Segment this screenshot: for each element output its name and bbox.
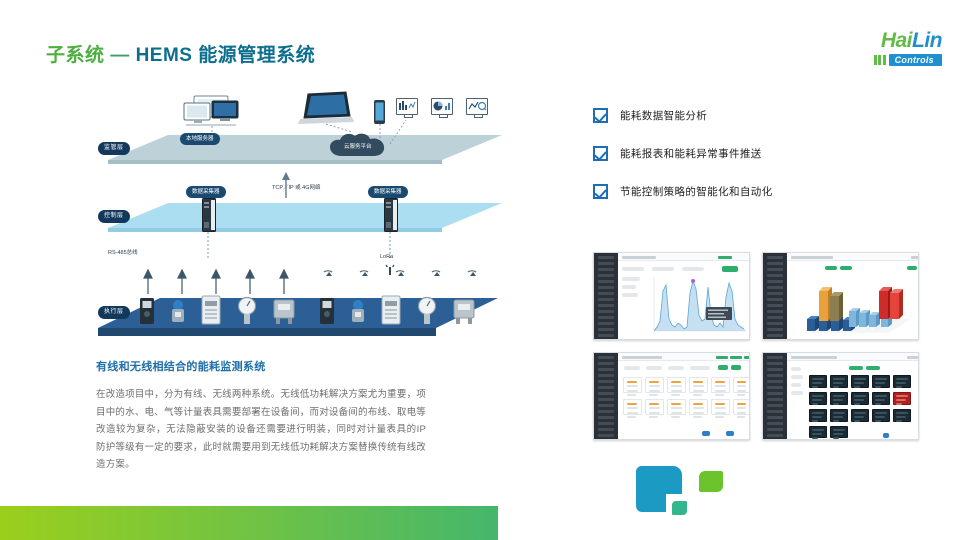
logo-word-hai: Hai (881, 29, 912, 52)
page-title-prefix: 子系统 (46, 45, 110, 66)
meter-electric (140, 298, 154, 324)
architecture-diagram: 监管层 控制层 执行层 本地服务器 云服务平台 (90, 80, 530, 345)
deco-teal-arm-shape (636, 466, 682, 494)
deco-teal-small-shape (672, 501, 687, 515)
screenshot-sidebar (763, 353, 787, 439)
checklist-item-label: 节能控制策略的智能化和自动化 (620, 184, 773, 199)
wired-meter-group (134, 292, 314, 328)
meter-electric-wireless (320, 298, 334, 324)
device-tile[interactable] (809, 392, 827, 405)
screenshot-topbar (787, 253, 918, 261)
screenshot-energy-3d-bar[interactable] (762, 252, 919, 340)
device-card[interactable] (645, 399, 664, 415)
screenshot-sidebar (594, 353, 618, 439)
meter-gauge-wireless (419, 298, 436, 325)
check-icon (593, 108, 608, 123)
screenshot-energy-trend[interactable] (593, 252, 750, 340)
page-title-dash: — (110, 45, 135, 66)
device-card[interactable] (623, 399, 642, 415)
screenshot-sidebar (763, 253, 787, 339)
device-tile[interactable] (872, 392, 890, 405)
feature-checklist: 能耗数据智能分析 能耗报表和能耗异常事件推送 节能控制策略的智能化和自动化 (593, 108, 923, 222)
device-card[interactable] (689, 377, 708, 393)
device-tile[interactable] (851, 409, 869, 422)
brand-logo: HaiLin Controls (834, 30, 942, 72)
logo-bars-icon (874, 55, 886, 65)
checklist-item-control-automation[interactable]: 节能控制策略的智能化和自动化 (593, 184, 923, 199)
device-card[interactable] (733, 377, 750, 393)
screenshot-sidebar (594, 253, 618, 339)
device-tile[interactable] (893, 409, 911, 422)
device-card[interactable] (711, 377, 730, 393)
screenshot-content (787, 261, 918, 339)
screenshot-content (618, 261, 749, 339)
device-tile[interactable] (872, 409, 890, 422)
area-chart (644, 275, 748, 337)
checklist-item-label: 能耗数据智能分析 (620, 108, 707, 123)
device-card[interactable] (667, 399, 686, 415)
checklist-item-analysis[interactable]: 能耗数据智能分析 (593, 108, 923, 123)
bar-3d-chart (793, 275, 919, 337)
wireless-meter-group (314, 292, 494, 328)
device-tile[interactable] (851, 392, 869, 405)
device-tile[interactable] (809, 375, 827, 388)
check-icon (593, 146, 608, 161)
screenshot-device-monitor[interactable] (762, 352, 919, 440)
device-card[interactable] (711, 399, 730, 415)
page-title-main: HEMS 能源管理系统 (136, 45, 316, 66)
device-card[interactable] (689, 399, 708, 415)
logo-wordmark: HaiLin (834, 30, 942, 52)
check-icon (593, 184, 608, 199)
device-card[interactable] (733, 399, 750, 415)
device-tile[interactable] (830, 409, 848, 422)
device-tile[interactable] (830, 392, 848, 405)
screenshot-topbar (787, 353, 918, 361)
caption-heading: 有线和无线相结合的能耗监测系统 (96, 358, 426, 374)
page-title: 子系统 — HEMS 能源管理系统 (46, 40, 315, 67)
screenshot-content (787, 361, 918, 439)
device-card[interactable] (645, 377, 664, 393)
screenshot-content (618, 361, 749, 439)
meter-water (172, 300, 184, 322)
screenshot-device-cards[interactable] (593, 352, 750, 440)
device-tile[interactable] (809, 426, 827, 438)
caption-body: 在改造项目中，分为有线、无线两种系统。无线低功耗解决方案尤为重要，项目中的水、电… (96, 386, 426, 474)
caption-block: 有线和无线相结合的能耗监测系统 在改造项目中，分为有线、无线两种系统。无线低功耗… (96, 358, 426, 474)
checklist-item-label: 能耗报表和能耗异常事件推送 (620, 146, 762, 161)
device-tile[interactable] (830, 426, 848, 438)
screenshot-topbar (618, 253, 749, 261)
device-tile[interactable] (893, 375, 911, 388)
device-tile[interactable] (851, 375, 869, 388)
device-card[interactable] (623, 377, 642, 393)
device-tile-alarm[interactable] (893, 392, 911, 405)
meter-gas (274, 300, 294, 324)
deco-green-leaf-shape (699, 471, 723, 492)
logo-word-lin: Lin (912, 29, 942, 52)
meter-calculator (202, 296, 220, 324)
device-tile[interactable] (872, 375, 890, 388)
logo-subrow: Controls (834, 54, 942, 66)
meter-gas-wireless (454, 300, 474, 324)
screenshot-topbar (618, 353, 749, 361)
device-tile[interactable] (830, 375, 848, 388)
bottom-white-notch (498, 506, 960, 540)
logo-controls-label: Controls (889, 54, 942, 66)
screenshot-gallery (593, 252, 919, 442)
device-card[interactable] (667, 377, 686, 393)
checklist-item-report-push[interactable]: 能耗报表和能耗异常事件推送 (593, 146, 923, 161)
meter-gauge (239, 298, 256, 325)
meter-calculator-wireless (382, 296, 400, 324)
device-tile[interactable] (809, 409, 827, 422)
meter-water-wireless (352, 300, 364, 322)
